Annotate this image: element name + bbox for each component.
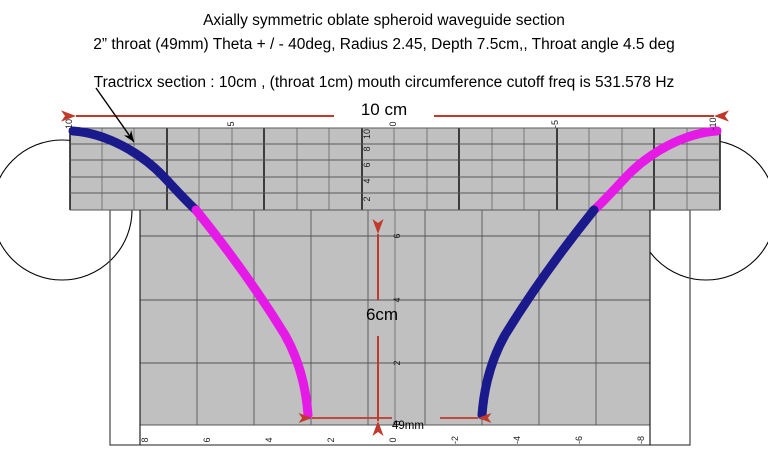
svg-text:4: 4 xyxy=(392,297,402,302)
svg-text:2: 2 xyxy=(392,360,402,365)
svg-text:6: 6 xyxy=(362,162,372,167)
svg-text:-8: -8 xyxy=(636,436,646,444)
svg-text:6: 6 xyxy=(202,437,212,442)
svg-text:4: 4 xyxy=(264,437,274,442)
svg-text:-4: -4 xyxy=(512,436,522,444)
diagram-canvas: Axially symmetric oblate spheroid wavegu… xyxy=(0,0,768,456)
svg-text:2: 2 xyxy=(326,437,336,442)
svg-text:4: 4 xyxy=(362,178,372,183)
width-dimension-label: 10 cm xyxy=(334,100,434,120)
svg-text:5: 5 xyxy=(226,121,236,126)
svg-text:-10: -10 xyxy=(708,117,718,130)
throat-dimension-label: 49mm xyxy=(392,420,452,432)
depth-dimension-label: 6cm xyxy=(352,305,412,325)
svg-text:-6: -6 xyxy=(574,436,584,444)
svg-text:-5: -5 xyxy=(550,120,560,128)
svg-text:6: 6 xyxy=(392,233,402,238)
svg-text:0: 0 xyxy=(388,437,398,442)
svg-text:0: 0 xyxy=(388,121,398,126)
svg-text:2: 2 xyxy=(362,196,372,201)
svg-text:8: 8 xyxy=(362,146,372,151)
svg-text:8: 8 xyxy=(140,437,150,442)
svg-text:10: 10 xyxy=(64,119,74,129)
waveguide-section-figure: 10 5 0 -5 -10 10 8 6 4 2 6 4 2 0 8 6 4 2… xyxy=(0,0,768,456)
svg-text:-2: -2 xyxy=(450,436,460,444)
svg-text:10: 10 xyxy=(362,129,372,139)
bottom-axis-tick-labels: 8 6 4 2 0 -2 -4 -6 -8 xyxy=(140,436,646,444)
